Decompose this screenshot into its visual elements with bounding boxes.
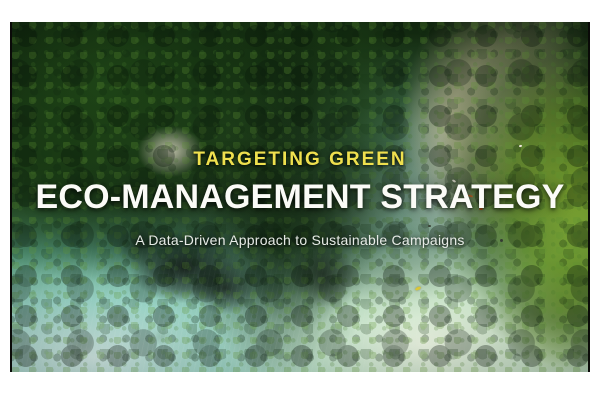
boat-white-two — [519, 144, 522, 147]
kayak-yellow — [415, 286, 422, 291]
slide-headline: ECO-MANAGEMENT STRATEGY — [12, 180, 588, 216]
presentation-slide: TARGETING GREEN ECO-MANAGEMENT STRATEGY … — [0, 0, 600, 400]
background-photo: TARGETING GREEN ECO-MANAGEMENT STRATEGY … — [10, 22, 590, 372]
slide-subheadline: A Data-Driven Approach to Sustainable Ca… — [12, 232, 588, 249]
slide-eyebrow: TARGETING GREEN — [12, 150, 588, 171]
slide-text-block: TARGETING GREEN ECO-MANAGEMENT STRATEGY … — [12, 150, 588, 248]
